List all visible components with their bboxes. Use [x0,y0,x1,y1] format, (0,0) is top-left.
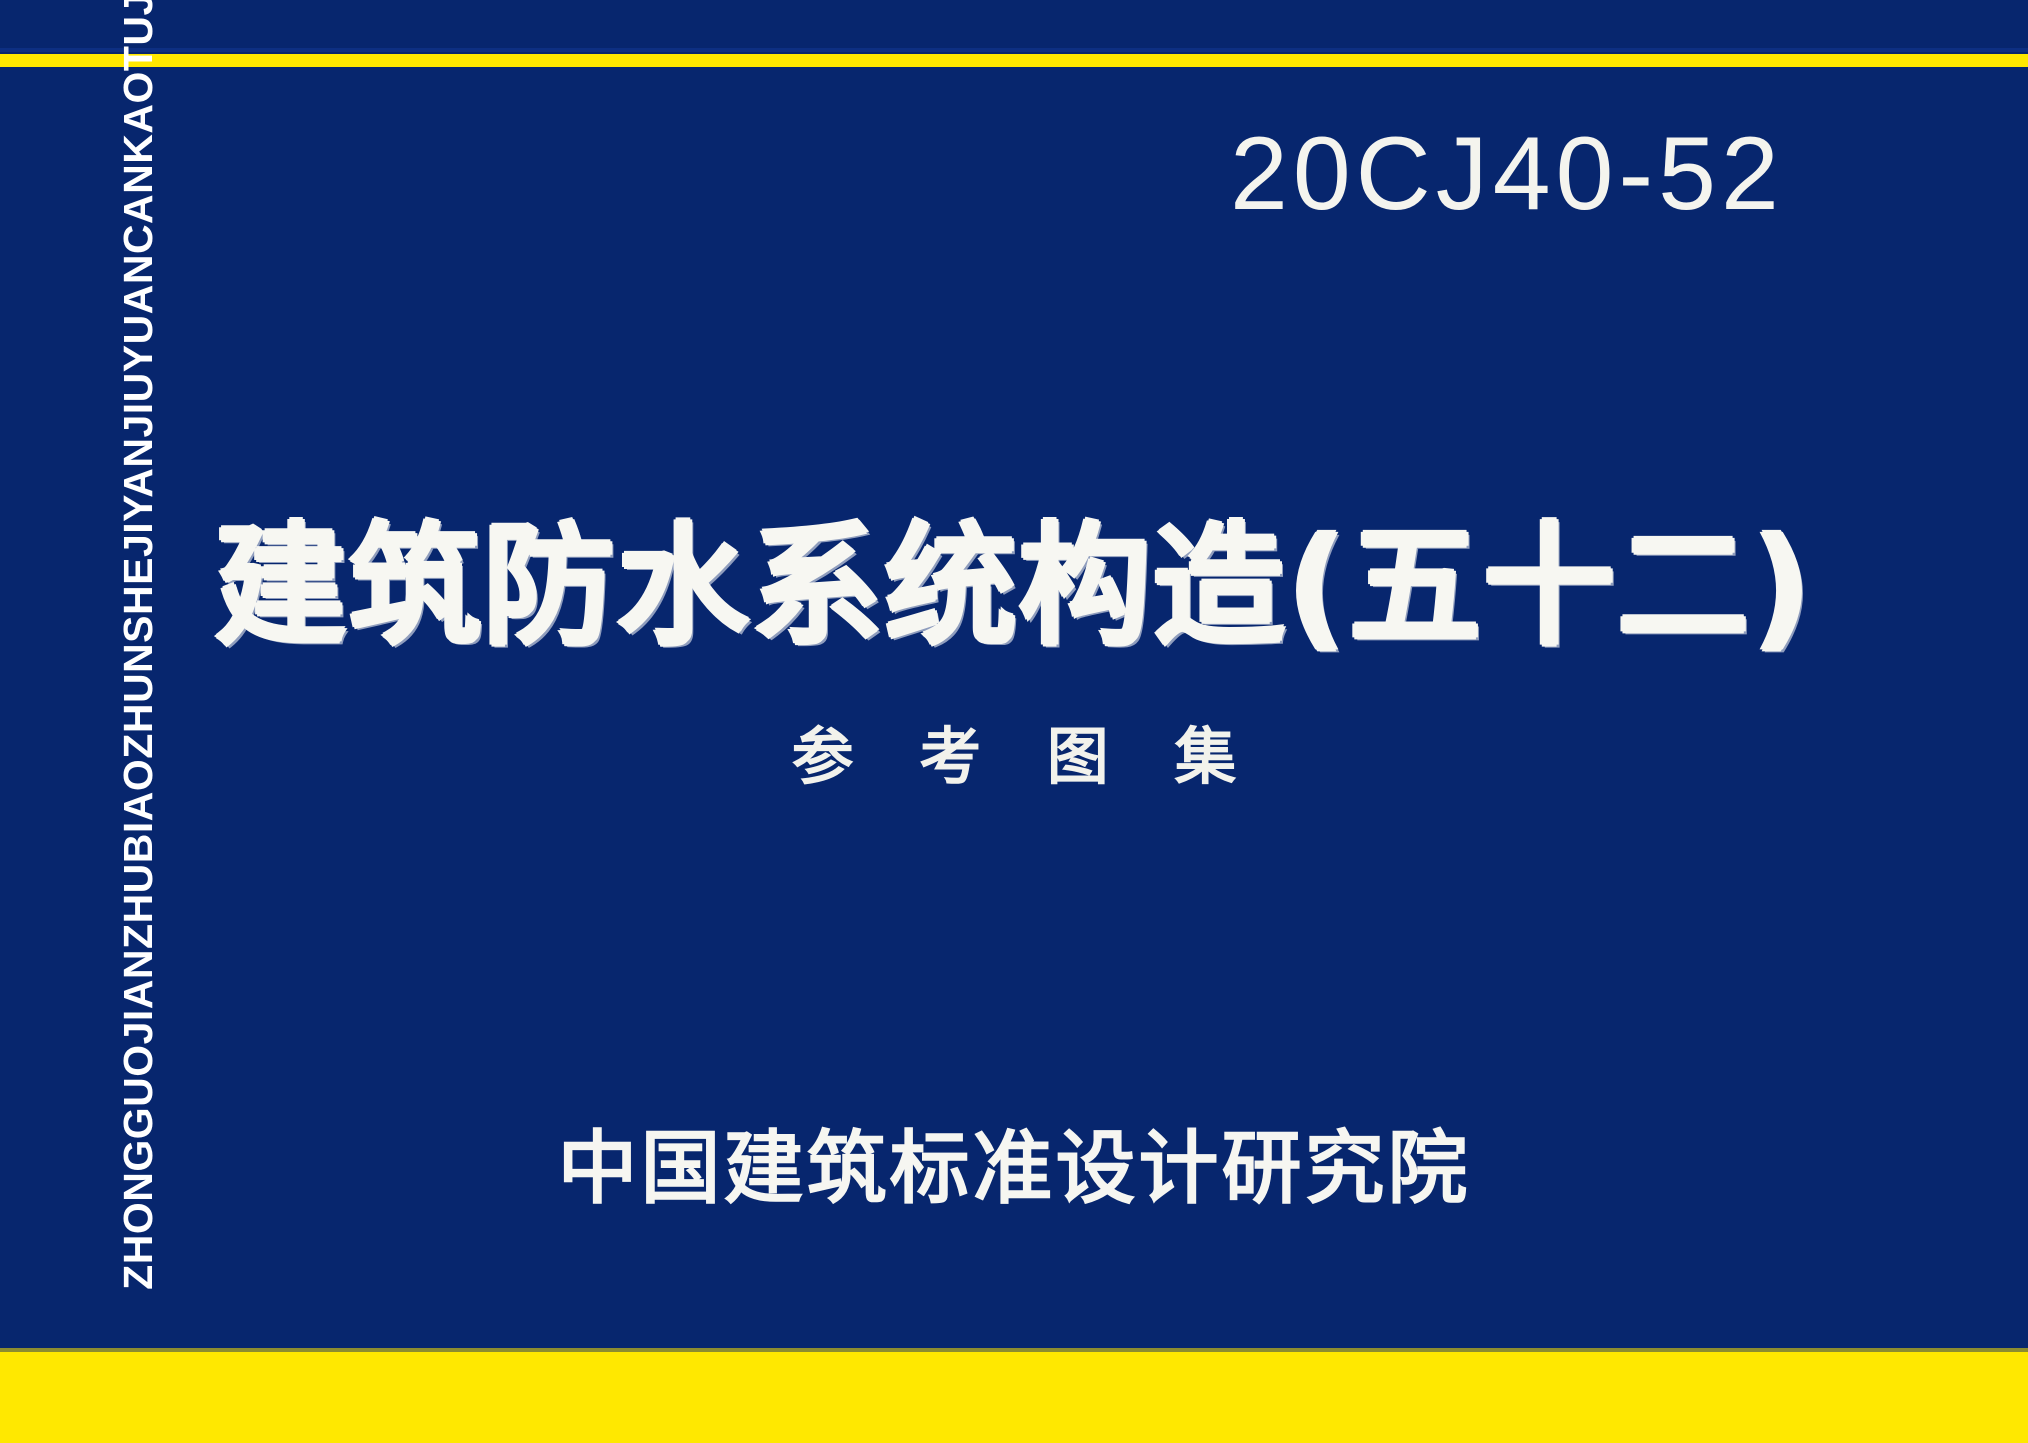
atlas-code: 20CJ40-52 [1230,122,1784,226]
bottom-yellow-band [0,1352,2028,1443]
book-cover: ZHONGGUOJIANZHUBIAOZHUNSHEJIYANJIUYUANCA… [0,0,2028,1443]
top-hairline-divider [0,48,2028,52]
subtitle: 参 考 图 集 [0,726,2028,788]
page-title: 建筑防水系统构造(五十二) [0,518,2028,657]
top-yellow-stripe [0,54,2028,67]
publisher-name: 中国建筑标准设计研究院 [0,1128,2028,1208]
